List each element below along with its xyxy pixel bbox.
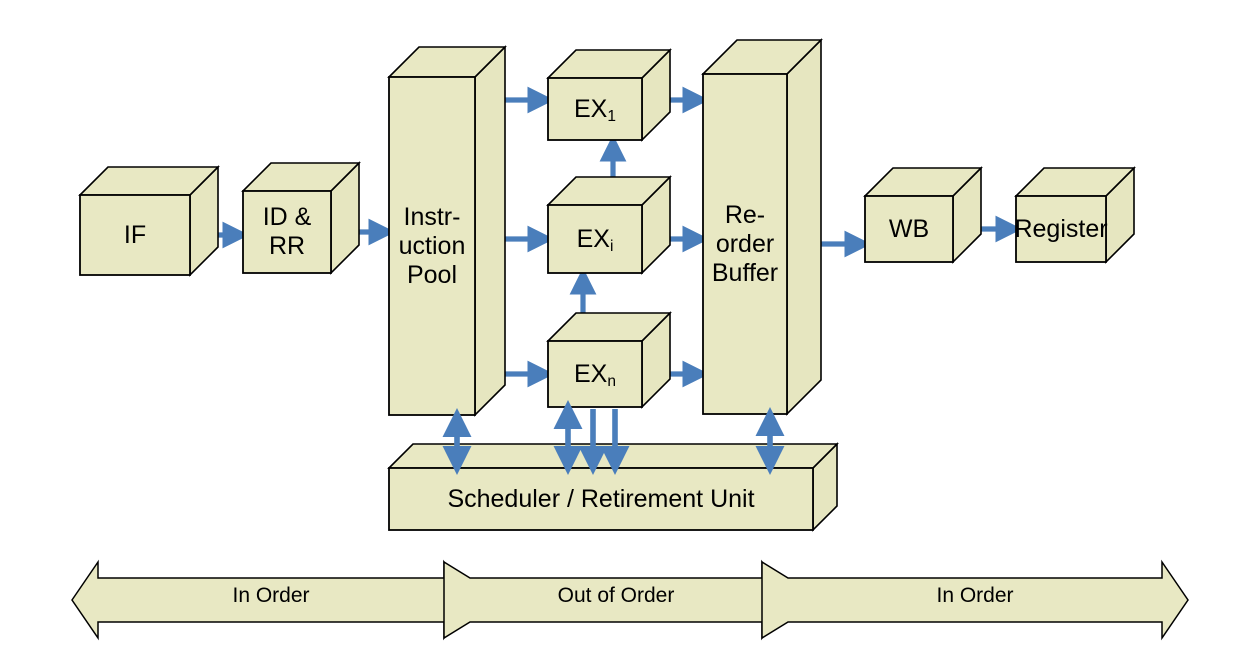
stage-box-front-reorder-buffer	[703, 74, 787, 414]
stage-box-front-scheduler-retirement-unit	[389, 468, 813, 530]
stage-box-front-register	[1016, 196, 1106, 262]
stage-box-front-ex-i	[548, 205, 642, 273]
stage-box-front-if	[80, 195, 190, 275]
stage-box-front-instruction-pool	[389, 77, 475, 415]
diagram-canvas: IFID & RRInstr- uction PoolEX1EXiEXnRe- …	[0, 0, 1249, 661]
order-banner-group	[72, 562, 1188, 638]
stage-box-front-id-rr	[243, 191, 331, 273]
stage-box-wb	[865, 168, 981, 262]
stage-box-register	[1016, 168, 1134, 262]
stage-box-id-rr	[243, 163, 359, 273]
stage-box-if	[80, 167, 218, 275]
stage-box-reorder-buffer	[703, 40, 821, 414]
diagram-svg	[0, 0, 1249, 661]
stage-box-side-reorder-buffer	[787, 40, 821, 414]
stage-box-side-instruction-pool	[475, 47, 505, 415]
order-banner-segment-in-order-back	[762, 562, 1188, 638]
stage-box-ex-n	[548, 313, 670, 407]
stage-box-ex-1	[548, 50, 670, 140]
stage-box-ex-i	[548, 177, 670, 273]
order-banner-segment-in-order-front	[72, 562, 470, 638]
order-banner-segment-out-of-order	[444, 562, 788, 638]
stage-box-front-ex-n	[548, 341, 642, 407]
stage-box-group	[80, 40, 1134, 530]
stage-box-front-ex-1	[548, 78, 642, 140]
stage-box-front-wb	[865, 196, 953, 262]
stage-box-instruction-pool	[389, 47, 505, 415]
